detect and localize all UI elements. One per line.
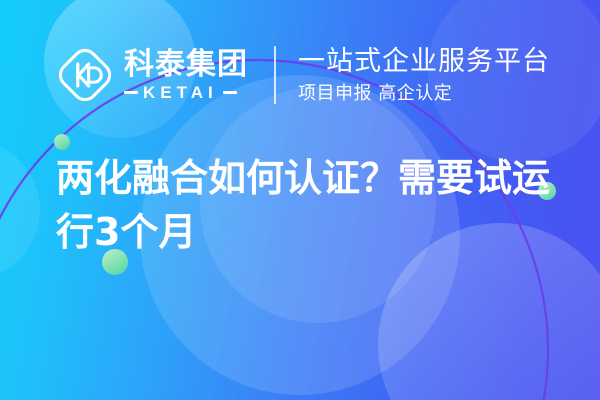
banner-header: 科泰集团 KETAI 一站式企业服务平台 项目申报 高企认定 xyxy=(56,36,550,114)
ketai-diamond-kd-logo-icon xyxy=(56,46,114,104)
slogan-main-text: 一站式企业服务平台 xyxy=(298,46,550,78)
logo-dash-left-icon xyxy=(124,91,138,94)
banner-image: 科泰集团 KETAI 一站式企业服务平台 项目申报 高企认定 两化融合如何认证？… xyxy=(0,0,600,400)
header-divider xyxy=(274,46,276,104)
logo-company-en: KETAI xyxy=(143,84,218,101)
logo-company-en-row: KETAI xyxy=(124,84,248,101)
slogan-sub-text: 项目申报 高企认定 xyxy=(298,83,550,105)
brand-logo[interactable]: 科泰集团 KETAI xyxy=(56,36,248,114)
page-title: 两化融合如何认证？需要试运行3个月 xyxy=(56,152,566,260)
logo-company-cn: 科泰集团 xyxy=(124,49,248,81)
header-slogan: 一站式企业服务平台 项目申报 高企认定 xyxy=(298,46,550,104)
logo-dash-right-icon xyxy=(223,91,237,94)
